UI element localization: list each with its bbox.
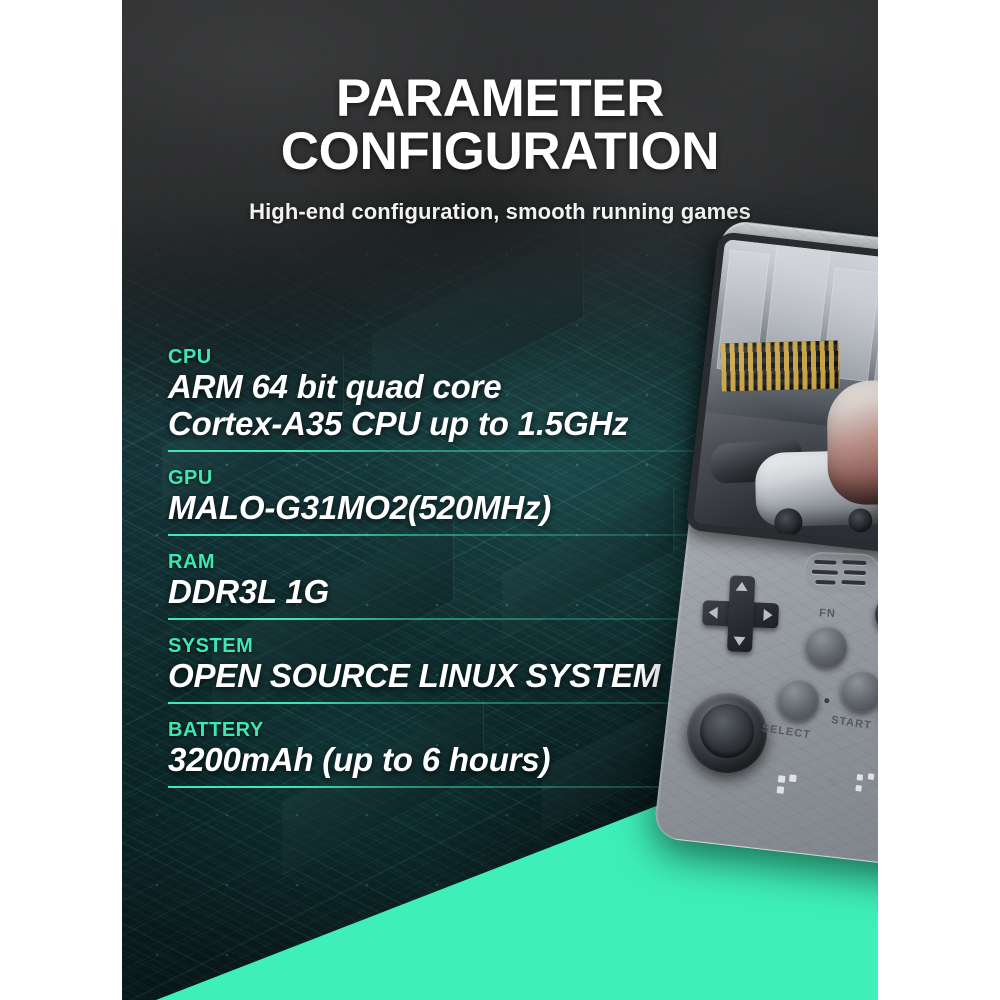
label-start: START: [830, 714, 872, 732]
page-title: PARAMETER CONFIGURATION: [122, 0, 878, 178]
dpad-up-icon[interactable]: [736, 582, 748, 592]
dpad-left-icon[interactable]: [708, 606, 718, 618]
power-led-icon: [824, 698, 830, 704]
infographic-page: PARAMETER CONFIGURATION High-end configu…: [0, 0, 1000, 1000]
label-select: SELECT: [761, 722, 812, 741]
handheld-console: JABO: [687, 236, 878, 856]
button-select[interactable]: [776, 678, 820, 722]
dpad-down-icon[interactable]: [733, 637, 745, 647]
button-fn[interactable]: [805, 625, 849, 669]
dark-panel: PARAMETER CONFIGURATION High-end configu…: [122, 0, 878, 1000]
label-fn: FN: [819, 607, 836, 620]
console-controls: X A Y B FN SELECT START: [653, 219, 878, 872]
button-y[interactable]: Y: [874, 593, 878, 635]
speaker-grille: [803, 551, 878, 594]
dpad[interactable]: [701, 574, 780, 653]
dpad-right-icon[interactable]: [763, 609, 773, 621]
analog-stick-left[interactable]: [685, 691, 768, 774]
header-block: PARAMETER CONFIGURATION High-end configu…: [122, 0, 878, 225]
button-start[interactable]: [840, 669, 878, 713]
page-subtitle: High-end configuration, smooth running g…: [122, 178, 878, 225]
